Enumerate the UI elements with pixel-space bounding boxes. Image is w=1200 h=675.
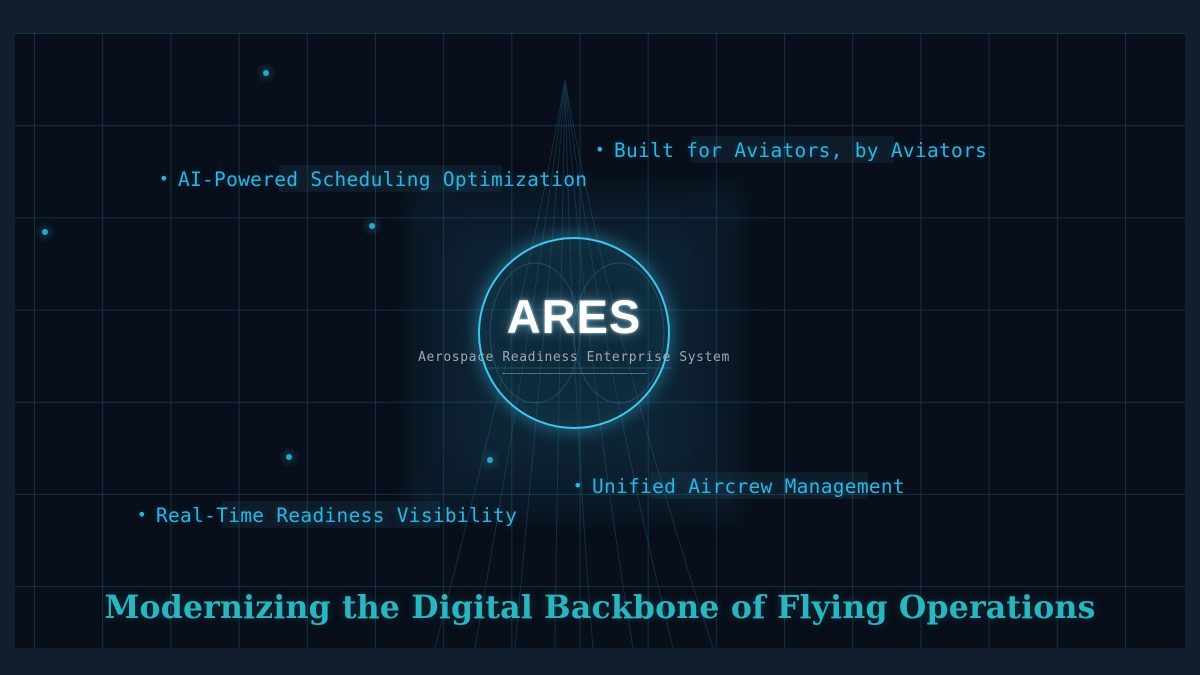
feature-real-time-readiness-visibility[interactable]: •Real-Time Readiness Visibility [137,504,517,527]
feature-label: Real-Time Readiness Visibility [156,504,517,527]
slide-tagline: Modernizing the Digital Backbone of Flyi… [15,589,1185,626]
slide-canvas: •Built for Aviators, by Aviators •AI-Pow… [0,0,1200,675]
feature-built-for-aviators[interactable]: •Built for Aviators, by Aviators [595,139,987,162]
feature-label: Built for Aviators, by Aviators [614,139,987,162]
node-dot [487,457,493,463]
logo-underline [502,373,647,374]
logo-title: ARES [478,293,670,340]
node-dot [263,70,269,76]
content-panel: •Built for Aviators, by Aviators •AI-Pow… [15,33,1185,648]
ares-logo: ARES Aerospace Readiness Enterprise Syst… [478,237,670,429]
bullet-icon: • [137,505,147,524]
logo-subtitle: Aerospace Readiness Enterprise System [363,350,785,365]
feature-label: Unified Aircrew Management [592,475,905,498]
bullet-icon: • [595,140,605,159]
node-dot [42,229,48,235]
node-dot [369,223,375,229]
feature-ai-powered-scheduling[interactable]: •AI-Powered Scheduling Optimization [159,168,587,191]
bullet-icon: • [573,476,583,495]
feature-label: AI-Powered Scheduling Optimization [178,168,587,191]
bullet-icon: • [159,169,169,188]
feature-unified-aircrew-management[interactable]: •Unified Aircrew Management [573,475,905,498]
node-dot [286,454,292,460]
